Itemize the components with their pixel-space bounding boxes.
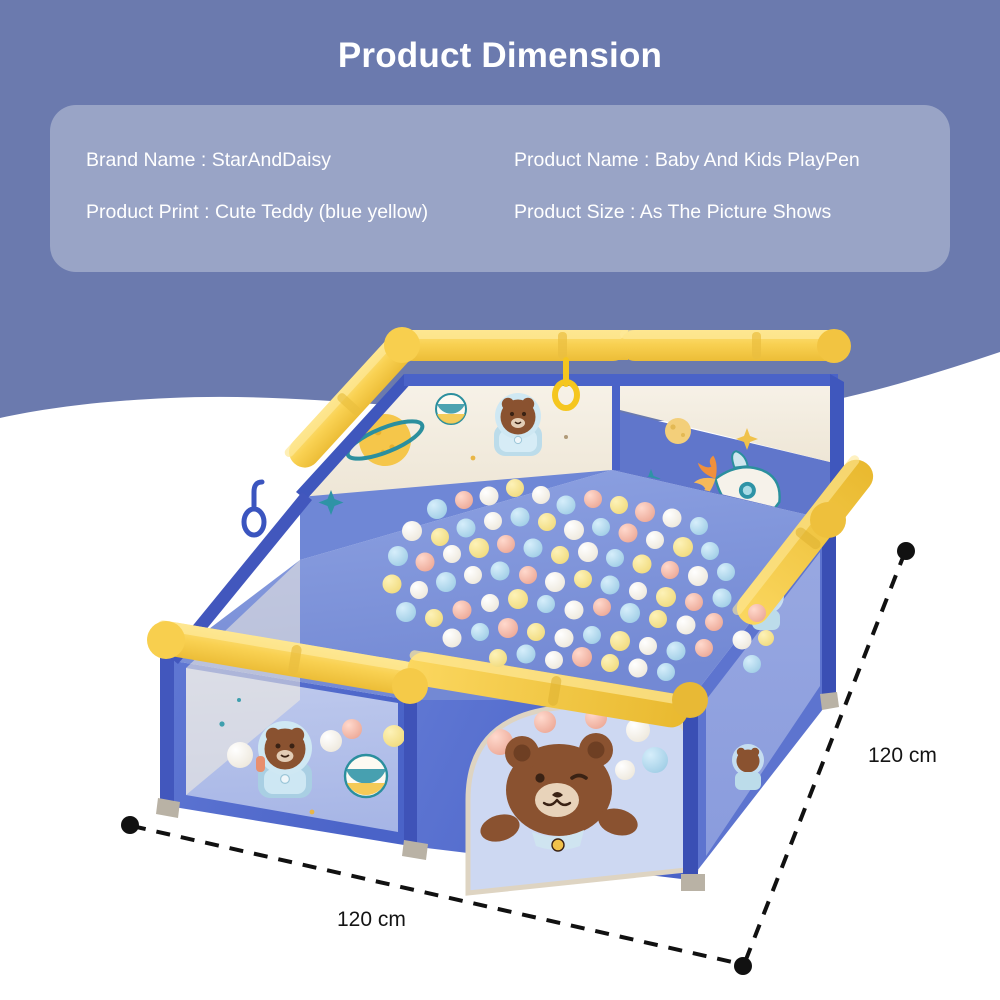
dimension-line-right (745, 552, 905, 962)
dimension-annotations (0, 0, 1000, 1000)
product-dimension-infographic: Product Dimension Brand Name : StarAndDa… (0, 0, 1000, 1000)
dimension-line-bottom (132, 826, 741, 964)
dimension-endpoint-left (121, 816, 139, 834)
dimension-endpoint-corner (734, 957, 752, 975)
dimension-endpoint-top-right (897, 542, 915, 560)
